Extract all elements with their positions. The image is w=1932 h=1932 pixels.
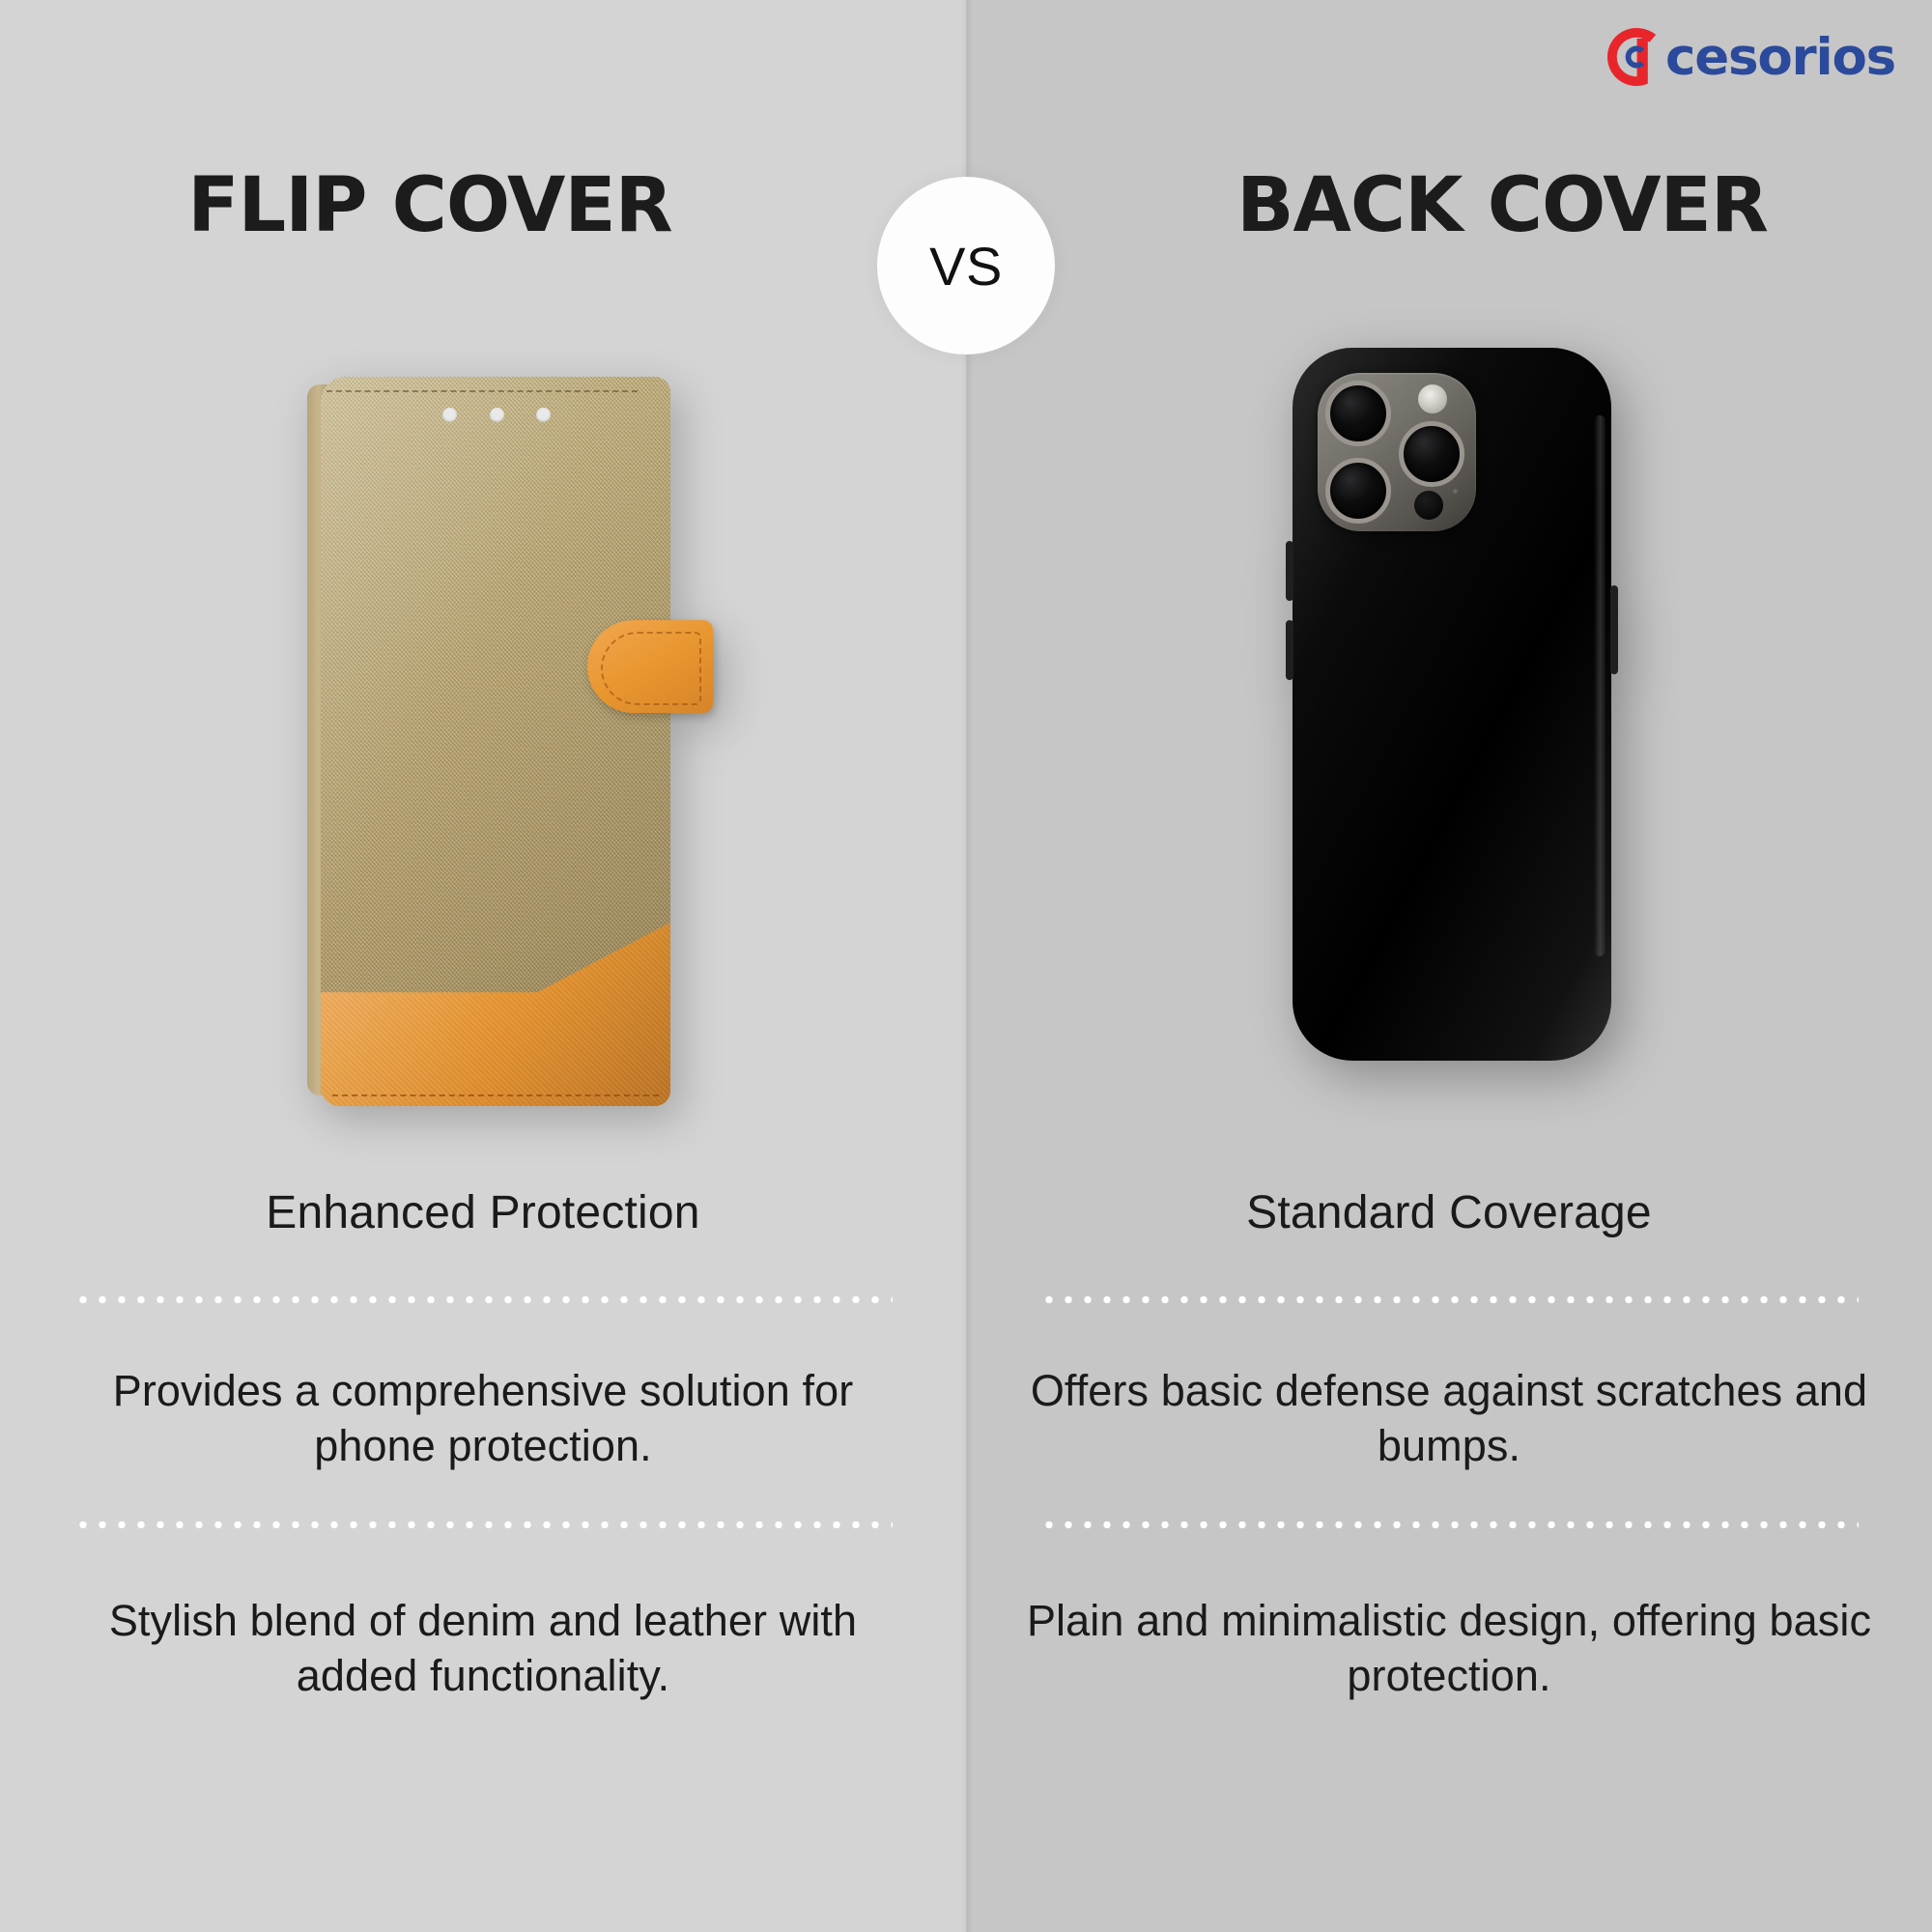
product-image-back-cover [966, 348, 1932, 1121]
dotted-divider [1039, 1520, 1859, 1529]
comparison-column-back-cover: BACK COVER Standard Coverage Offers basi… [966, 0, 1932, 1932]
dotted-divider [73, 1520, 893, 1529]
flip-cover-illustration [307, 377, 670, 1106]
product-image-flip-cover [0, 348, 966, 1121]
page-title-flip-cover: FLIP COVER [0, 162, 966, 249]
camera-lens-icon [1325, 381, 1391, 446]
back-cover-illustration [1293, 348, 1611, 1061]
subtitle-back-cover: Standard Coverage [966, 1186, 1932, 1239]
power-button-cutout [1610, 585, 1618, 674]
feature-text: Provides a comprehensive solution for ph… [48, 1364, 918, 1473]
camera-lens-icon [1399, 421, 1464, 487]
feature-text: Offers basic defense against scratches a… [1014, 1364, 1884, 1473]
dotted-divider [1039, 1295, 1859, 1304]
page-title-back-cover: BACK COVER [966, 162, 1932, 249]
flip-cover-snap-dots [442, 408, 551, 422]
flip-cover-top-stitching [327, 390, 638, 392]
lidar-sensor-icon [1414, 491, 1443, 520]
volume-up-button-cutout [1286, 541, 1293, 601]
camera-flash-icon [1418, 384, 1447, 413]
dotted-divider [73, 1295, 893, 1304]
camera-module [1318, 373, 1476, 531]
flip-cover-magnetic-tab [587, 620, 713, 713]
volume-down-button-cutout [1286, 620, 1293, 680]
versus-badge: VS [877, 177, 1055, 355]
snap-dot [536, 408, 551, 422]
subtitle-flip-cover: Enhanced Protection [0, 1186, 966, 1239]
camera-lens-icon [1325, 458, 1391, 524]
microphone-icon [1453, 489, 1458, 494]
comparison-column-flip-cover: FLIP COVER Enhanced Protection Provides … [0, 0, 966, 1932]
feature-text: Plain and minimalistic design, offering … [1014, 1594, 1884, 1703]
snap-dot [442, 408, 457, 422]
feature-text: Stylish blend of denim and leather with … [48, 1594, 918, 1703]
flip-cover-leather-stitching [332, 1094, 659, 1096]
snap-dot [490, 408, 504, 422]
versus-label: VS [929, 235, 1003, 298]
